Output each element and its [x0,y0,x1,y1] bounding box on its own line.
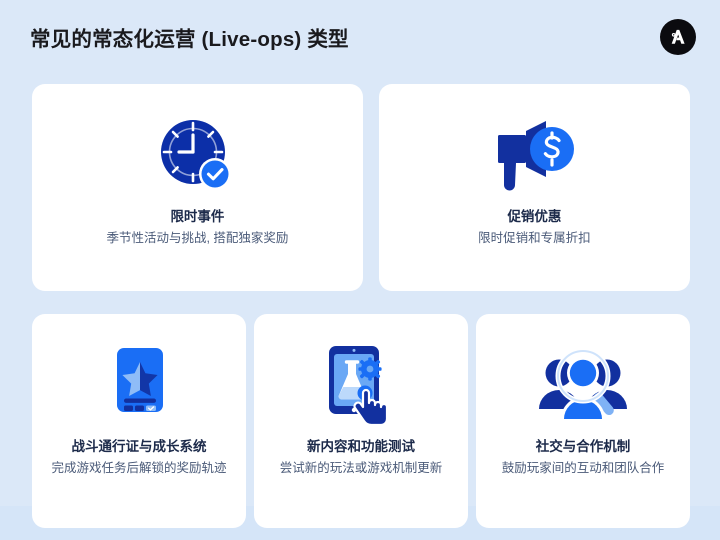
card-description: 鼓励玩家间的互动和团队合作 [502,459,665,478]
card-battle-pass[interactable]: 战斗通行证与成长系统 完成游戏任务后解锁的奖励轨迹 [32,314,246,528]
tablet-flask-gear-icon [317,336,405,432]
battle-pass-card-icon [103,336,175,432]
people-magnifier-icon [533,336,633,432]
card-title: 社交与合作机制 [536,438,631,456]
card-new-content-testing[interactable]: 新内容和功能测试 尝试新的玩法或游戏机制更新 [254,314,468,528]
page-title: 常见的常态化运营 (Live-ops) 类型 [30,22,349,52]
card-promotional-offers[interactable]: 促销优惠 限时促销和专属折扣 [379,84,690,291]
live-ops-types-infographic: 常见的常态化运营 (Live-ops) 类型 [0,0,720,540]
brand-logo-icon [667,26,689,48]
card-description: 完成游戏任务后解锁的奖励轨迹 [51,459,226,478]
card-description: 限时促销和专属折扣 [478,229,591,248]
card-description: 季节性活动与挑战, 搭配独家奖励 [106,229,288,248]
card-row-top: 限时事件 季节性活动与挑战, 搭配独家奖励 [32,84,690,291]
card-title: 新内容和功能测试 [307,438,415,456]
card-social-cooperation[interactable]: 社交与合作机制 鼓励玩家间的互动和团队合作 [476,314,690,528]
card-row-bottom: 战斗通行证与成长系统 完成游戏任务后解锁的奖励轨迹 [32,314,690,528]
clock-check-icon [155,110,239,202]
card-title: 促销优惠 [507,208,561,226]
card-title: 战斗通行证与成长系统 [72,438,207,456]
card-title: 限时事件 [170,208,224,226]
megaphone-dollar-icon [488,110,580,202]
brand-logo [660,19,696,55]
header: 常见的常态化运营 (Live-ops) 类型 [0,0,720,74]
card-description: 尝试新的玩法或游戏机制更新 [280,459,443,478]
card-limited-time-events[interactable]: 限时事件 季节性活动与挑战, 搭配独家奖励 [32,84,363,291]
